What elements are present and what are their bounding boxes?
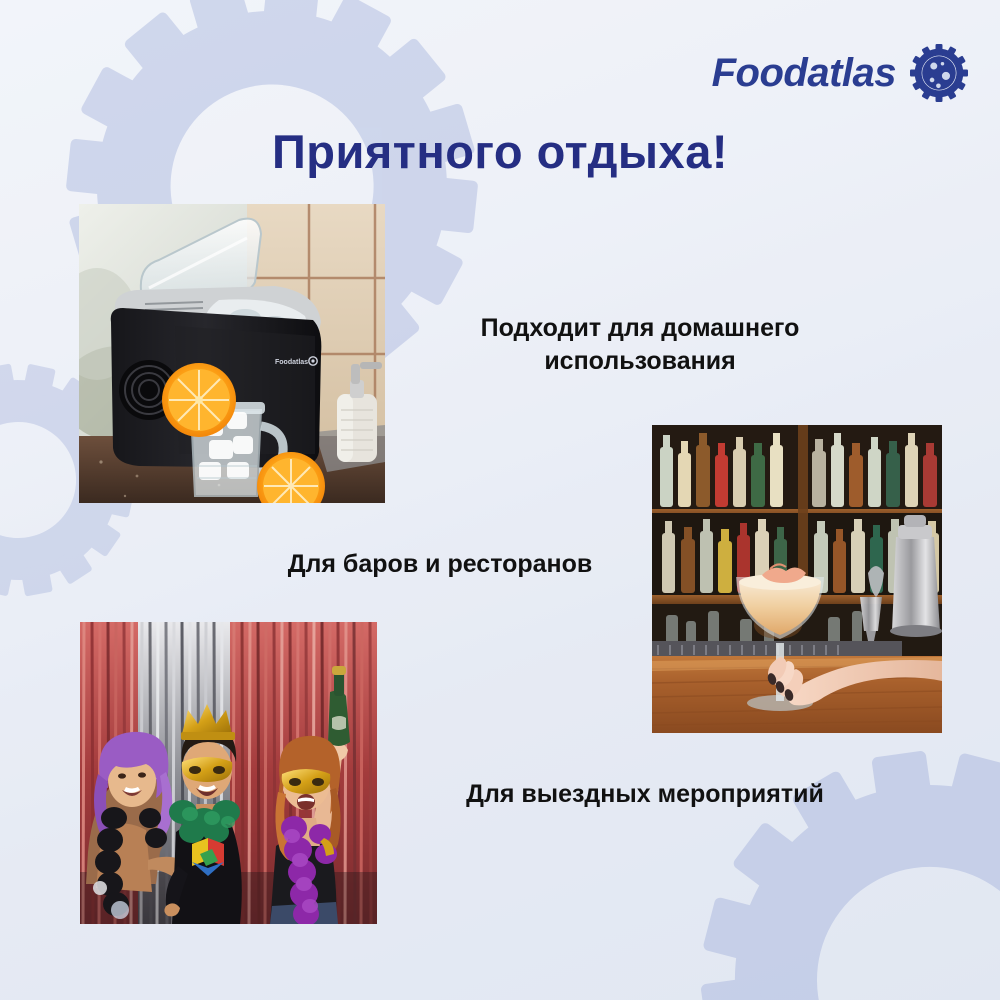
brand-name: Foodatlas	[712, 53, 896, 93]
photo-bar-cocktail	[652, 425, 942, 733]
caption-bars: Для баров и ресторанов	[220, 548, 660, 581]
promo-poster: Foodatlas	[0, 0, 1000, 1000]
svg-text:Foodatlas: Foodatlas	[275, 359, 308, 366]
photo-party-people	[80, 622, 377, 924]
caption-events: Для выездных мероприятий	[400, 778, 890, 811]
caption-home-use: Подходит для домашнего использования	[430, 312, 850, 378]
photo-ice-maker: Foodatlas	[79, 204, 385, 503]
gear-globe-icon	[910, 44, 968, 102]
page-title: Приятного отдыха!	[0, 124, 1000, 179]
brand-logo[interactable]: Foodatlas	[712, 44, 968, 102]
